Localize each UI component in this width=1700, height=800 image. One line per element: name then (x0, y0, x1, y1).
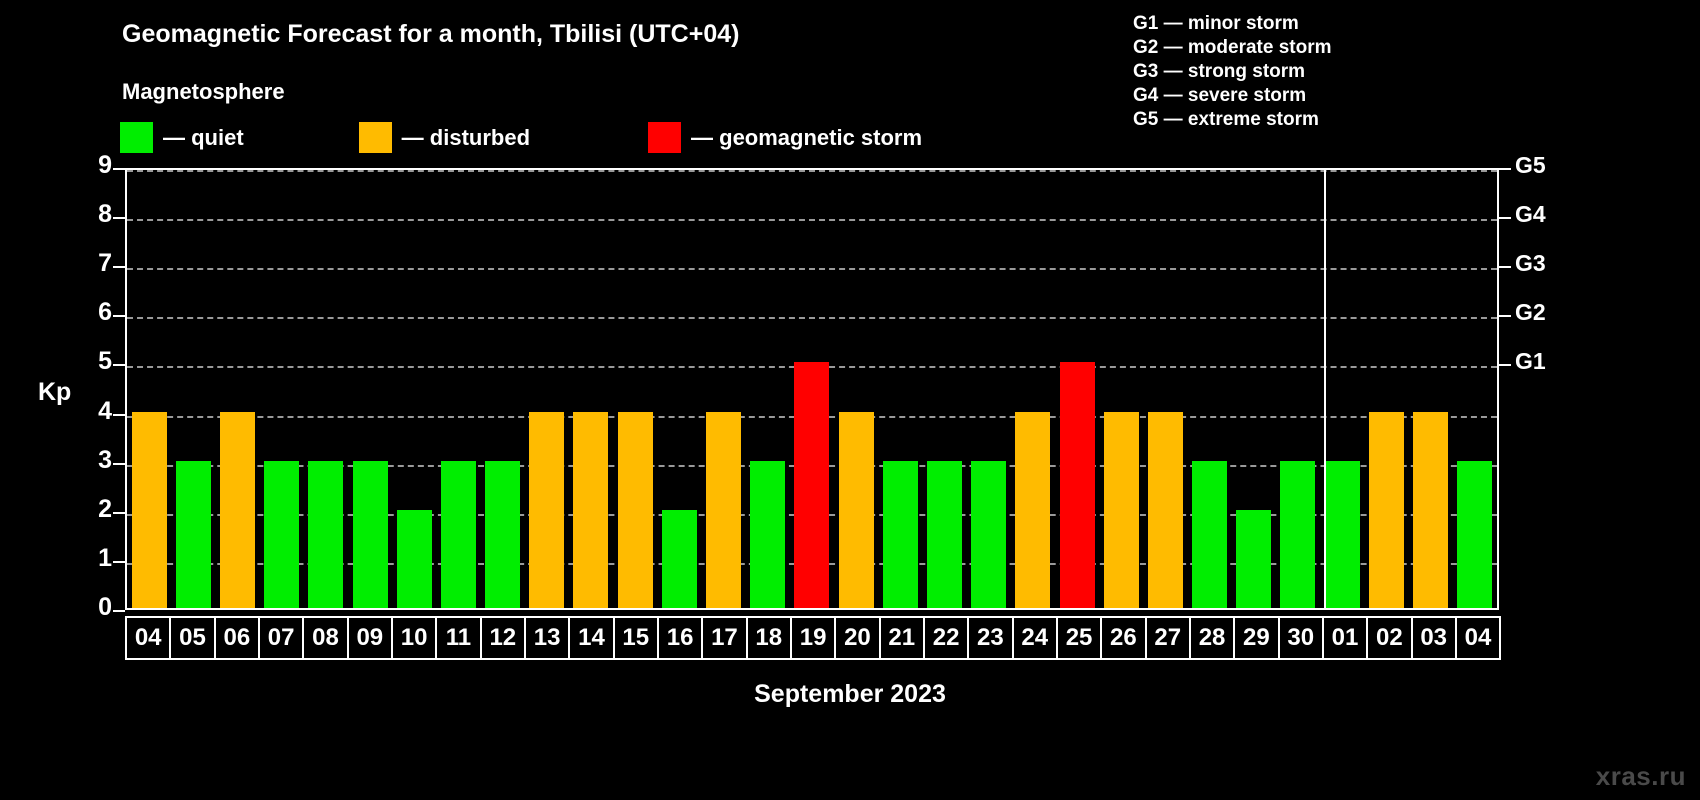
legend-swatch-quiet-icon (120, 122, 153, 153)
bar-day-04[interactable] (1457, 461, 1492, 608)
y-tick-mark-7 (113, 266, 125, 268)
bar-slot-16-12 (657, 170, 701, 608)
bar-day-02[interactable] (1369, 412, 1404, 608)
g-legend-row-3: G3 — strong storm (1133, 60, 1332, 84)
bar-slot-09-5 (348, 170, 392, 608)
bar-slot-17-13 (701, 170, 745, 608)
day-label-03-29[interactable]: 03 (1411, 616, 1457, 660)
legend-item-quiet: — quiet (120, 122, 244, 153)
g-legend-row-5: G5 — extreme storm (1133, 108, 1332, 132)
bar-day-29[interactable] (1236, 510, 1271, 608)
y-tick-mark-6 (113, 315, 125, 317)
day-label-19-15[interactable]: 19 (790, 616, 836, 660)
magnetosphere-label: Magnetosphere (122, 79, 285, 105)
g-axis-tick-g4 (1499, 217, 1511, 219)
bar-slot-14-10 (569, 170, 613, 608)
bar-day-25[interactable] (1060, 362, 1095, 608)
bar-slot-12-8 (481, 170, 525, 608)
bar-slot-07-3 (260, 170, 304, 608)
legend-label-disturbed: — disturbed (402, 125, 530, 151)
y-tick-mark-4 (113, 414, 125, 416)
g-axis-label-g1: G1 (1515, 348, 1546, 375)
day-label-18-14[interactable]: 18 (746, 616, 792, 660)
day-label-08-4[interactable]: 08 (302, 616, 348, 660)
bar-slot-18-14 (746, 170, 790, 608)
bar-day-27[interactable] (1148, 412, 1183, 608)
bar-slot-03-29 (1408, 170, 1452, 608)
bar-slot-11-7 (436, 170, 480, 608)
day-label-12-8[interactable]: 12 (480, 616, 526, 660)
bar-day-04[interactable] (132, 412, 167, 608)
month-divider-line (1324, 170, 1326, 608)
g-axis-tick-g1 (1499, 364, 1511, 366)
bar-day-18[interactable] (750, 461, 785, 608)
bar-day-07[interactable] (264, 461, 299, 608)
day-label-26-22[interactable]: 26 (1100, 616, 1146, 660)
day-label-09-5[interactable]: 09 (347, 616, 393, 660)
day-label-11-7[interactable]: 11 (435, 616, 481, 660)
x-axis-title: September 2023 (0, 680, 1700, 709)
bar-slot-20-16 (834, 170, 878, 608)
day-label-29-25[interactable]: 29 (1233, 616, 1279, 660)
bar-day-06[interactable] (220, 412, 255, 608)
day-label-07-3[interactable]: 07 (258, 616, 304, 660)
bar-day-08[interactable] (308, 461, 343, 608)
bar-slot-02-28 (1364, 170, 1408, 608)
bar-slot-15-11 (613, 170, 657, 608)
y-tick-label-4: 4 (82, 397, 112, 426)
day-label-27-23[interactable]: 27 (1145, 616, 1191, 660)
day-label-21-17[interactable]: 21 (879, 616, 925, 660)
plot-inner (127, 170, 1497, 608)
bar-day-05[interactable] (176, 461, 211, 608)
day-label-02-28[interactable]: 02 (1366, 616, 1412, 660)
bar-slot-23-19 (967, 170, 1011, 608)
bar-series (127, 170, 1497, 608)
day-label-15-11[interactable]: 15 (613, 616, 659, 660)
bar-day-15[interactable] (618, 412, 653, 608)
magnetosphere-legend: — quiet— disturbed— geomagnetic storm (120, 122, 922, 153)
y-axis-title: Kp (38, 378, 71, 407)
y-tick-mark-8 (113, 217, 125, 219)
g-axis-label-g3: G3 (1515, 250, 1546, 277)
bar-day-16[interactable] (662, 510, 697, 608)
bar-day-12[interactable] (485, 461, 520, 608)
y-tick-label-9: 9 (82, 151, 112, 180)
day-label-01-27[interactable]: 01 (1322, 616, 1368, 660)
bar-slot-13-9 (525, 170, 569, 608)
bar-day-28[interactable] (1192, 461, 1227, 608)
x-axis-day-labels: 0405060708091011121314151617181920212223… (125, 616, 1499, 660)
y-tick-mark-5 (113, 364, 125, 366)
bar-day-23[interactable] (971, 461, 1006, 608)
bar-slot-05-1 (171, 170, 215, 608)
legend-item-storm: — geomagnetic storm (648, 122, 922, 153)
g-axis-tick-g5 (1499, 168, 1511, 170)
bar-slot-29-25 (1232, 170, 1276, 608)
day-label-17-13[interactable]: 17 (701, 616, 747, 660)
day-label-23-19[interactable]: 23 (967, 616, 1013, 660)
day-label-22-18[interactable]: 22 (923, 616, 969, 660)
bar-slot-22-18 (922, 170, 966, 608)
bar-day-26[interactable] (1104, 412, 1139, 608)
day-label-14-10[interactable]: 14 (568, 616, 614, 660)
y-tick-label-2: 2 (82, 495, 112, 524)
legend-label-storm: — geomagnetic storm (691, 125, 922, 151)
bar-day-17[interactable] (706, 412, 741, 608)
day-label-16-12[interactable]: 16 (657, 616, 703, 660)
legend-label-quiet: — quiet (163, 125, 244, 151)
bar-day-03[interactable] (1413, 412, 1448, 608)
day-label-13-9[interactable]: 13 (524, 616, 570, 660)
bar-slot-04-0 (127, 170, 171, 608)
y-tick-mark-3 (113, 463, 125, 465)
bar-day-22[interactable] (927, 461, 962, 608)
y-tick-label-3: 3 (82, 446, 112, 475)
g-axis-tick-g2 (1499, 315, 1511, 317)
g-axis-label-g5: G5 (1515, 152, 1546, 179)
bar-day-30[interactable] (1280, 461, 1315, 608)
bar-day-11[interactable] (441, 461, 476, 608)
bar-slot-21-17 (878, 170, 922, 608)
page-title: Geomagnetic Forecast for a month, Tbilis… (122, 20, 739, 49)
legend-swatch-disturbed-icon (359, 122, 392, 153)
g-legend-row-4: G4 — severe storm (1133, 84, 1332, 108)
y-tick-label-8: 8 (82, 200, 112, 229)
legend-item-disturbed: — disturbed (359, 122, 530, 153)
watermark: xras.ru (1596, 761, 1686, 792)
bar-slot-27-23 (1143, 170, 1187, 608)
g-axis-label-g2: G2 (1515, 299, 1546, 326)
y-tick-mark-1 (113, 561, 125, 563)
day-label-04-0[interactable]: 04 (125, 616, 171, 660)
bar-slot-08-4 (304, 170, 348, 608)
bar-day-09[interactable] (353, 461, 388, 608)
y-tick-label-1: 1 (82, 544, 112, 573)
g-scale-legend: G1 — minor stormG2 — moderate stormG3 — … (1133, 12, 1332, 132)
day-label-20-16[interactable]: 20 (834, 616, 880, 660)
g-legend-row-1: G1 — minor storm (1133, 12, 1332, 36)
bar-slot-06-2 (215, 170, 259, 608)
bar-day-01[interactable] (1325, 461, 1360, 608)
y-tick-label-7: 7 (82, 249, 112, 278)
bar-slot-04-30 (1453, 170, 1497, 608)
g-axis-label-g4: G4 (1515, 201, 1546, 228)
bar-day-14[interactable] (573, 412, 608, 608)
y-tick-label-5: 5 (82, 347, 112, 376)
y-tick-label-0: 0 (82, 593, 112, 622)
bar-slot-24-20 (1011, 170, 1055, 608)
day-label-24-20[interactable]: 24 (1012, 616, 1058, 660)
bar-day-19[interactable] (794, 362, 829, 608)
bar-day-24[interactable] (1015, 412, 1050, 608)
bar-day-13[interactable] (529, 412, 564, 608)
day-label-04-30[interactable]: 04 (1455, 616, 1501, 660)
day-label-05-1[interactable]: 05 (169, 616, 215, 660)
bar-slot-01-27 (1320, 170, 1364, 608)
bar-slot-30-26 (1276, 170, 1320, 608)
day-label-10-6[interactable]: 10 (391, 616, 437, 660)
g-legend-row-2: G2 — moderate storm (1133, 36, 1332, 60)
bar-slot-25-21 (1055, 170, 1099, 608)
y-tick-mark-9 (113, 168, 125, 170)
day-label-30-26[interactable]: 30 (1278, 616, 1324, 660)
chart-plot-area (125, 168, 1499, 610)
bar-slot-26-22 (1099, 170, 1143, 608)
y-tick-mark-0 (113, 610, 125, 612)
bar-slot-28-24 (1188, 170, 1232, 608)
y-tick-mark-2 (113, 512, 125, 514)
day-label-06-2[interactable]: 06 (214, 616, 260, 660)
legend-swatch-storm-icon (648, 122, 681, 153)
day-label-25-21[interactable]: 25 (1056, 616, 1102, 660)
bar-slot-10-6 (392, 170, 436, 608)
g-axis-tick-g3 (1499, 266, 1511, 268)
day-label-28-24[interactable]: 28 (1189, 616, 1235, 660)
bar-day-10[interactable] (397, 510, 432, 608)
bar-day-20[interactable] (839, 412, 874, 608)
y-tick-label-6: 6 (82, 298, 112, 327)
bar-day-21[interactable] (883, 461, 918, 608)
bar-slot-19-15 (790, 170, 834, 608)
